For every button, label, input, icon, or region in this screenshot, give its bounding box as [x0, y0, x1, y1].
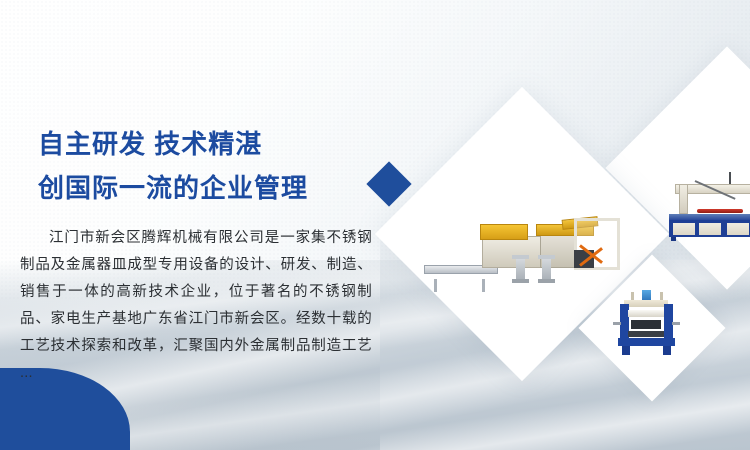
bench-post-left: [679, 184, 688, 214]
press-foot: [663, 346, 671, 355]
line-scissor-lift: [580, 244, 606, 266]
bench-cabinet-door: [727, 223, 749, 235]
machine-press-image: [616, 290, 678, 356]
line-support-pillar: [542, 258, 551, 280]
bench-cabinet-door: [699, 223, 721, 235]
headline-line-2: 创国际一流的企业管理: [38, 166, 398, 210]
bench-red-workpiece: [697, 209, 743, 213]
press-upper-die: [628, 310, 664, 317]
line-conveyor-leg: [434, 279, 437, 292]
press-die-core: [631, 320, 661, 329]
headline: 自主研发 技术精湛 创国际一流的企业管理: [38, 122, 398, 210]
company-intro-banner: 自主研发 技术精湛 创国际一流的企业管理 江门市新会区腾辉机械有限公司是一家集不…: [0, 0, 750, 450]
press-bed: [618, 338, 675, 346]
line-main-body: [482, 236, 542, 268]
press-lower-die: [628, 331, 664, 337]
bench-leg: [671, 237, 676, 241]
machine-production-line-image: [424, 208, 614, 280]
press-side-arm: [672, 322, 680, 325]
line-support-pillar: [516, 258, 525, 280]
intro-text-block: 自主研发 技术精湛 创国际一流的企业管理 江门市新会区腾辉机械有限公司是一家集不…: [0, 0, 400, 450]
company-description: 江门市新会区腾辉机械有限公司是一家集不锈钢制品及金属器皿成型专用设备的设计、研发…: [20, 225, 372, 387]
line-yellow-head-unit: [480, 224, 528, 240]
press-top-plate: [624, 300, 668, 307]
headline-line-1: 自主研发 技术精湛: [38, 129, 262, 159]
press-side-arm: [613, 322, 621, 325]
line-conveyor-leg: [482, 279, 485, 292]
bench-cabinet-door: [673, 223, 695, 235]
machine-welding-bench-image: [667, 178, 750, 240]
press-foot: [622, 346, 630, 355]
